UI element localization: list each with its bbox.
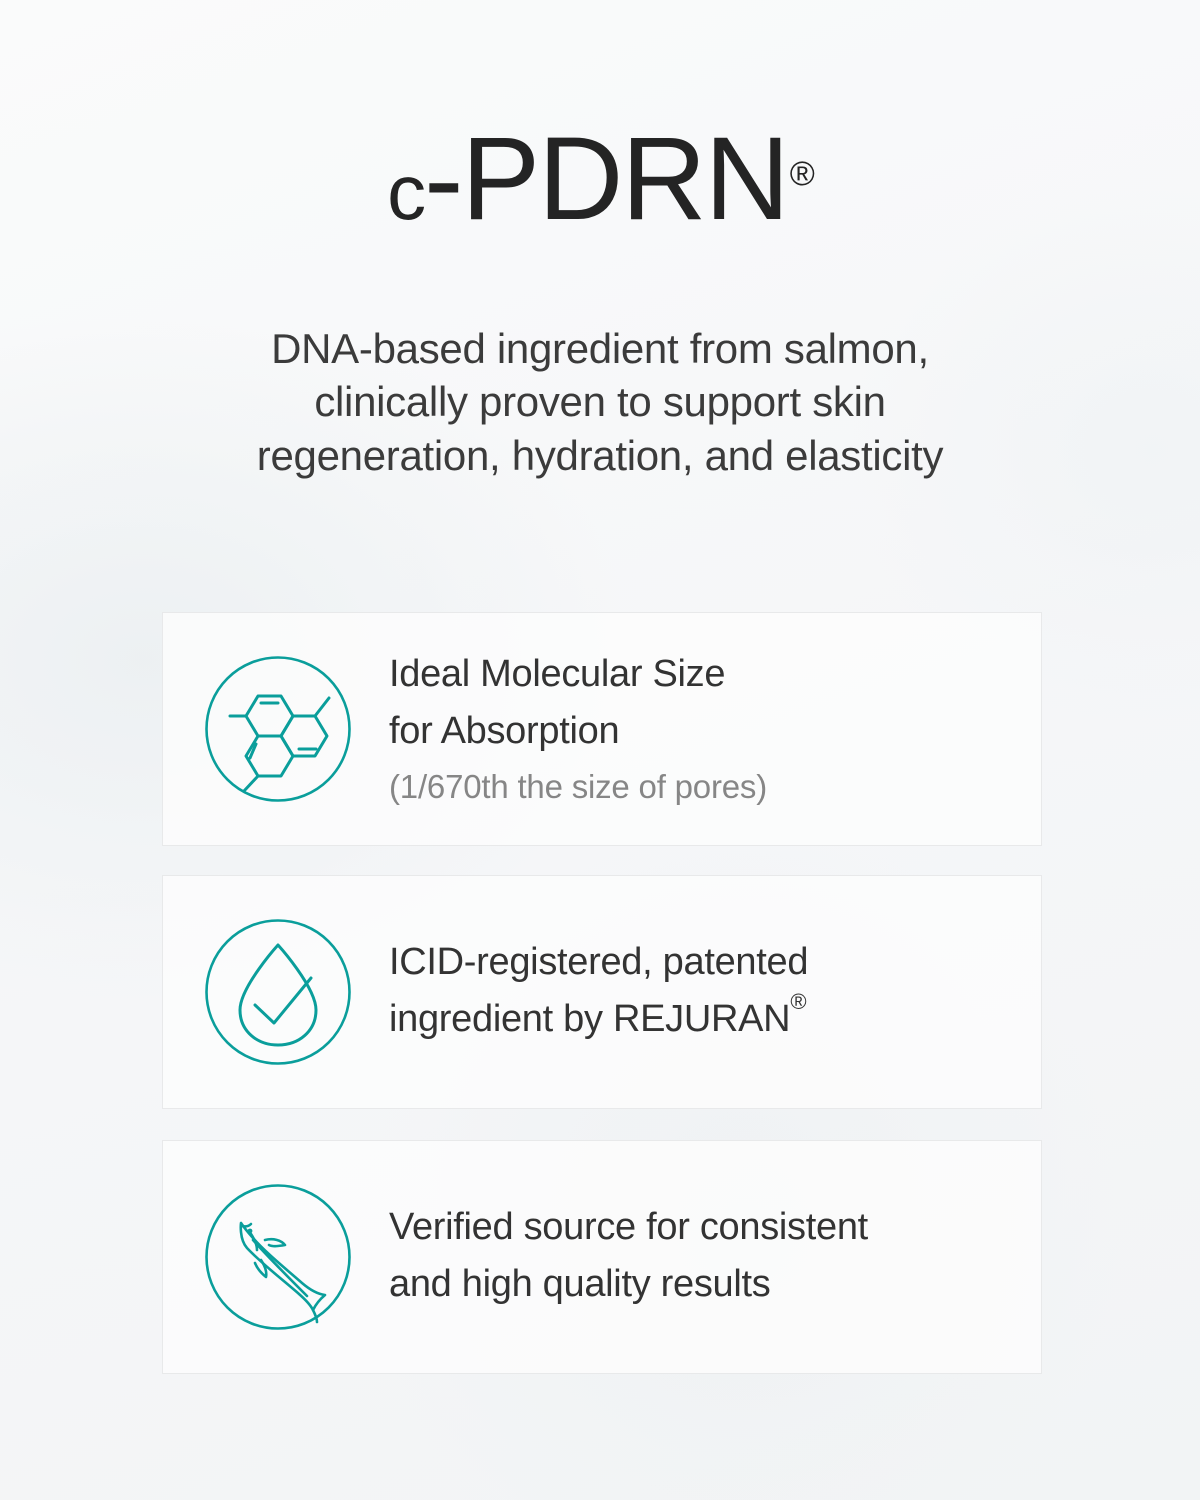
card-title-line-2: ingredient by REJURAN® bbox=[389, 991, 1023, 1048]
molecule-icon bbox=[203, 654, 353, 804]
registered-trademark-icon: ® bbox=[790, 155, 815, 193]
droplet-check-icon bbox=[203, 917, 353, 1067]
feature-card-verified-source: Verified source for consistent and high … bbox=[162, 1140, 1042, 1374]
card-title-line-2: for Absorption bbox=[389, 703, 1023, 760]
card-title: Ideal Molecular Size for Absorption bbox=[389, 646, 1023, 760]
card-title-line-2-text: ingredient by REJURAN bbox=[389, 998, 790, 1040]
card-title-line-2: and high quality results bbox=[389, 1256, 1023, 1313]
page-title: c-PDRN® bbox=[0, 120, 1200, 238]
registered-trademark-icon: ® bbox=[790, 989, 806, 1014]
brand-lead-letter: c bbox=[387, 148, 424, 236]
card-title: ICID-registered, patented ingredient by … bbox=[389, 934, 1023, 1048]
card-title-line-1: Ideal Molecular Size bbox=[389, 646, 1023, 703]
page-subtitle: DNA-based ingredient from salmon, clinic… bbox=[100, 322, 1100, 482]
subtitle-line-1: DNA-based ingredient from salmon, bbox=[100, 322, 1100, 375]
card-title-line-1: Verified source for consistent bbox=[389, 1199, 1023, 1256]
card-subtext: (1/670th the size of pores) bbox=[389, 764, 1023, 810]
feature-card-icid-registered: ICID-registered, patented ingredient by … bbox=[162, 875, 1042, 1109]
brand-wordmark: c-PDRN® bbox=[387, 120, 813, 238]
subtitle-line-3: regeneration, hydration, and elasticity bbox=[100, 429, 1100, 482]
subtitle-line-2: clinically proven to support skin bbox=[100, 375, 1100, 428]
fish-icon bbox=[203, 1182, 353, 1332]
feature-card-molecular-size: Ideal Molecular Size for Absorption (1/6… bbox=[162, 612, 1042, 846]
card-title: Verified source for consistent and high … bbox=[389, 1199, 1023, 1313]
brand-main-text: -PDRN bbox=[424, 113, 788, 245]
card-title-line-1: ICID-registered, patented bbox=[389, 934, 1023, 991]
